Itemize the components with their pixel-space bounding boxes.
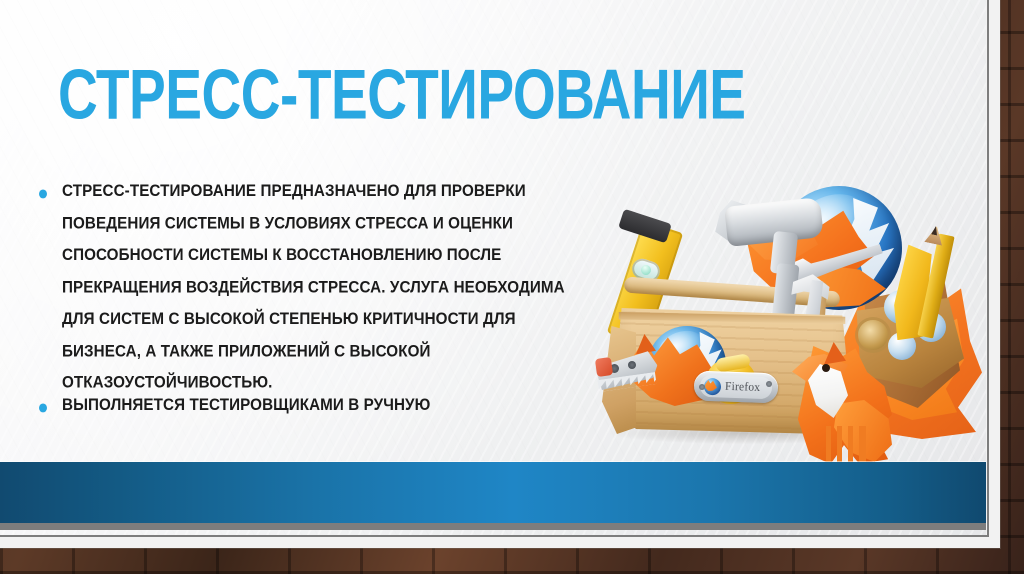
saw-hole — [628, 361, 636, 369]
list-item: Стресс-тестирование предназначено для пр… — [34, 176, 594, 400]
page-title: СТРЕСС-ТЕСТИРОВАНИЕ — [58, 60, 935, 132]
bullet-list: Стресс-тестирование предназначено для пр… — [34, 176, 594, 433]
list-item-text: Стресс-тестирование предназначено для пр… — [62, 182, 565, 393]
brand-plate-inner: Firefox — [700, 375, 773, 399]
screw-icon — [699, 384, 705, 390]
slide-canvas: СТРЕСС-ТЕСТИРОВАНИЕ Стресс-тестирование … — [0, 0, 986, 535]
screw-icon — [766, 381, 772, 387]
fox-legs — [826, 426, 866, 464]
firefox-toolbox-illustration: Firefox — [596, 186, 986, 461]
fox-eye — [822, 364, 830, 372]
list-item: Выполняется тестировщиками в ручную — [34, 390, 594, 422]
presentation-backdrop: СТРЕСС-ТЕСТИРОВАНИЕ Стресс-тестирование … — [0, 0, 1024, 574]
bullet-dot-icon — [39, 403, 47, 412]
list-item-text: Выполняется тестировщиками в ручную — [62, 396, 430, 415]
bullet-dot-icon — [39, 189, 47, 198]
gear-icon — [858, 320, 888, 350]
brand-plate-label: Firefox — [725, 380, 761, 394]
saw-handle — [595, 357, 613, 377]
footer-accent-band — [0, 462, 986, 523]
firefox-logo-icon — [704, 377, 722, 395]
slide-frame: СТРЕСС-ТЕСТИРОВАНИЕ Стресс-тестирование … — [0, 0, 1000, 548]
